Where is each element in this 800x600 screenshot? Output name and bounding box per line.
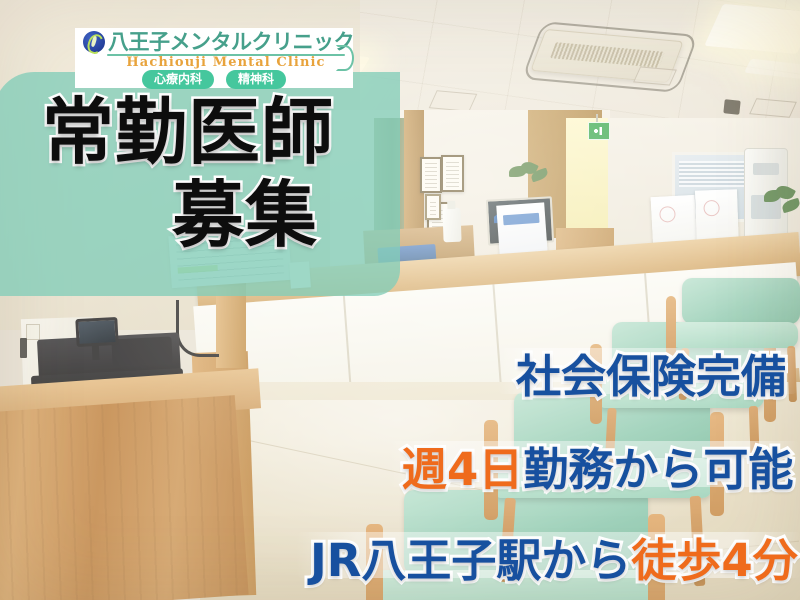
specialty-badges: 心療内科 精神科 — [75, 70, 353, 89]
feature-insurance: 社会保険完備 — [516, 340, 786, 405]
clinic-logo-card: 八王子メンタルクリニック Hachiouji Mental Clinic 心療内… — [75, 28, 353, 88]
clinic-name-en: Hachiouji Mental Clinic — [117, 55, 335, 70]
feature-access: JR八王子駅から徒歩4分 — [310, 524, 798, 589]
feature-work-days-highlight: 週4日 — [402, 443, 523, 496]
headline-line-1: 常勤医師 — [36, 96, 396, 169]
headline-line-2: 募集 — [36, 179, 396, 252]
headline: 常勤医師 募集 — [36, 96, 396, 253]
feature-work-days-text: 勤務から可能 — [523, 443, 793, 496]
feature-work-days: 週4日勤務から可能 — [402, 433, 793, 498]
feature-insurance-text: 社会保険完備 — [516, 350, 786, 403]
badge-seishinka: 精神科 — [226, 70, 286, 89]
feature-access-text: JR八王子駅から — [310, 534, 631, 587]
logo-row: 八王子メンタルクリニック — [83, 31, 354, 53]
recruitment-poster: 常勤医師 募集 八王子メンタルクリニック Hachiouji Mental Cl… — [0, 0, 800, 600]
clinic-name-jp: 八王子メンタルクリニック — [108, 32, 354, 53]
feature-access-highlight: 徒歩4分 — [631, 534, 797, 587]
clinic-leaf-circle-icon — [83, 31, 105, 53]
badge-shinryo-naika: 心療内科 — [142, 70, 214, 89]
